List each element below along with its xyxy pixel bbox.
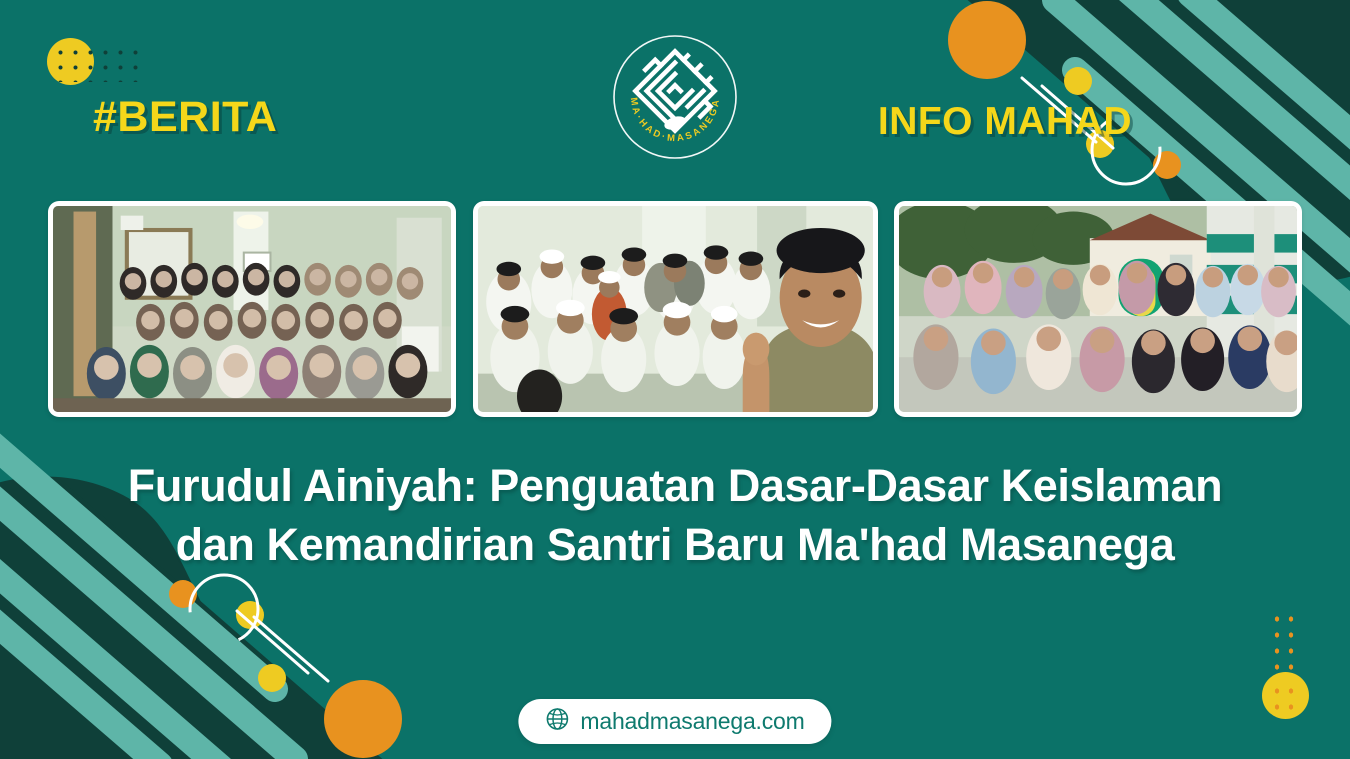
orange-circle-large bbox=[948, 1, 1026, 79]
berita-tag: #BERITA bbox=[93, 93, 277, 142]
website-badge[interactable]: mahadmasanega.com bbox=[518, 699, 831, 744]
poster-title: Furudul Ainiyah: Penguatan Dasar-Dasar K… bbox=[0, 456, 1350, 575]
photo-card-3[interactable] bbox=[894, 201, 1302, 417]
decoration-bottom-left bbox=[0, 399, 480, 759]
info-mahad-tag: INFO MAHAD bbox=[878, 100, 1132, 144]
orange-circle-small bbox=[1153, 151, 1181, 179]
website-label: mahadmasanega.com bbox=[580, 708, 804, 735]
photo-3-image bbox=[899, 206, 1297, 412]
yellow-circle-small-upper bbox=[1064, 67, 1092, 95]
globe-icon bbox=[545, 707, 569, 736]
orange-circle-large bbox=[324, 680, 402, 758]
dot-grid-top-left-overlay bbox=[52, 44, 94, 82]
photo-card-2[interactable] bbox=[473, 201, 878, 417]
logo: MA·HAD·MASANEGA bbox=[609, 31, 741, 163]
orange-circle-small bbox=[169, 580, 197, 608]
white-circle-outline bbox=[190, 575, 258, 643]
title-line-1: Furudul Ainiyah: Penguatan Dasar-Dasar K… bbox=[40, 456, 1310, 515]
photo-gallery bbox=[48, 201, 1302, 417]
title-line-2: dan Kemandirian Santri Baru Ma'had Masan… bbox=[40, 515, 1310, 574]
poster-canvas: #BERITA INFO MAHAD bbox=[0, 0, 1350, 759]
white-speed-lines bbox=[237, 611, 328, 681]
yellow-circle-small-lower bbox=[236, 601, 264, 629]
photo-1-image bbox=[53, 206, 451, 412]
yellow-circle-small-upper bbox=[258, 664, 286, 692]
photo-2-image bbox=[478, 206, 873, 412]
photo-card-1[interactable] bbox=[48, 201, 456, 417]
dot-grid-bottom-right-overlay bbox=[1268, 681, 1302, 713]
